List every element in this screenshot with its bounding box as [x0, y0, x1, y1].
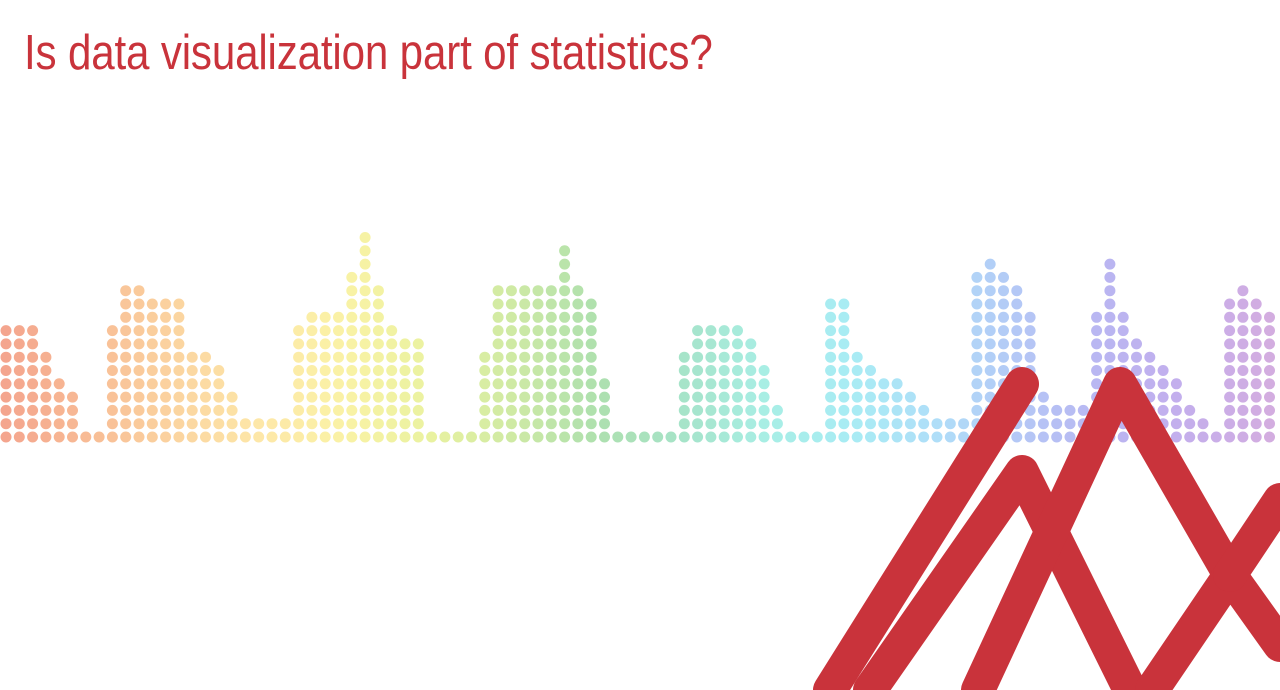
chart-dot — [865, 418, 876, 429]
chart-dot — [692, 405, 703, 416]
chart-dot — [134, 325, 145, 336]
chart-dot — [971, 365, 982, 376]
chart-dot — [1011, 299, 1022, 310]
chart-dot — [360, 325, 371, 336]
chart-dot — [892, 392, 903, 403]
chart-dot — [519, 378, 530, 389]
chart-dot — [838, 299, 849, 310]
chart-dot — [865, 365, 876, 376]
chart-dot — [67, 405, 78, 416]
chart-dot — [346, 285, 357, 296]
chart-dot — [227, 392, 238, 403]
chart-dot — [67, 418, 78, 429]
chart-dot — [1198, 418, 1209, 429]
chart-dot — [1237, 365, 1248, 376]
chart-dot — [998, 312, 1009, 323]
chart-dot — [533, 312, 544, 323]
chart-dot — [320, 325, 331, 336]
chart-dot — [519, 418, 530, 429]
chart-dot — [1011, 365, 1022, 376]
chart-dot — [519, 405, 530, 416]
chart-dot — [1144, 405, 1155, 416]
chart-dot — [400, 392, 411, 403]
chart-dot — [572, 392, 583, 403]
chart-dot — [1264, 312, 1275, 323]
chart-dot — [54, 432, 65, 443]
chart-dot — [1, 378, 12, 389]
chart-dot — [413, 392, 424, 403]
chart-dot — [1158, 392, 1169, 403]
chart-dot — [838, 312, 849, 323]
chart-dot — [107, 352, 118, 363]
chart-dot — [1, 405, 12, 416]
chart-dot — [1251, 432, 1262, 443]
chart-dot — [1011, 418, 1022, 429]
chart-dot — [1104, 405, 1115, 416]
chart-dot — [546, 432, 557, 443]
chart-dot — [506, 325, 517, 336]
chart-dot — [400, 365, 411, 376]
chart-dot — [572, 338, 583, 349]
chart-dot — [360, 418, 371, 429]
chart-dot — [506, 338, 517, 349]
chart-dot — [293, 432, 304, 443]
chart-dot — [293, 418, 304, 429]
chart-dot — [719, 325, 730, 336]
chart-dot — [1184, 418, 1195, 429]
chart-dot — [865, 432, 876, 443]
chart-dot — [1, 432, 12, 443]
chart-dot — [320, 432, 331, 443]
chart-dot — [453, 432, 464, 443]
chart-dot — [40, 352, 51, 363]
chart-dot — [533, 392, 544, 403]
chart-dot — [227, 418, 238, 429]
chart-dot — [1131, 378, 1142, 389]
chart-dot — [679, 405, 690, 416]
chart-dot — [1118, 432, 1129, 443]
chart-dot — [533, 405, 544, 416]
chart-dot — [293, 392, 304, 403]
chart-dot — [386, 325, 397, 336]
chart-dot — [945, 432, 956, 443]
chart-dot — [1184, 432, 1195, 443]
chart-dot — [120, 405, 131, 416]
chart-dot — [333, 392, 344, 403]
chart-dot — [878, 432, 889, 443]
chart-dot — [67, 432, 78, 443]
chart-dot — [120, 338, 131, 349]
chart-dot — [413, 418, 424, 429]
chart-dot — [400, 432, 411, 443]
chart-dot — [533, 352, 544, 363]
chart-dot — [559, 338, 570, 349]
chart-dot — [586, 352, 597, 363]
chart-dot — [386, 418, 397, 429]
dot-matrix-bar-chart — [0, 228, 1280, 450]
chart-dot — [599, 378, 610, 389]
chart-dot — [320, 312, 331, 323]
chart-dot — [280, 418, 291, 429]
chart-dot — [120, 352, 131, 363]
chart-dot — [1171, 432, 1182, 443]
chart-dot — [705, 352, 716, 363]
chart-dot — [546, 325, 557, 336]
chart-dot — [572, 418, 583, 429]
chart-dot — [1025, 392, 1036, 403]
chart-dot — [173, 352, 184, 363]
chart-dot — [346, 432, 357, 443]
chart-dot — [572, 285, 583, 296]
chart-dot — [493, 432, 504, 443]
chart-dot — [559, 405, 570, 416]
chart-dot — [439, 432, 450, 443]
chart-dot — [1264, 418, 1275, 429]
chart-dot — [54, 392, 65, 403]
chart-dot — [360, 352, 371, 363]
chart-dot — [918, 432, 929, 443]
chart-dot — [1158, 418, 1169, 429]
dot-matrix-svg — [0, 228, 1280, 450]
chart-dot — [838, 365, 849, 376]
chart-dot — [373, 365, 384, 376]
chart-dot — [1224, 418, 1235, 429]
chart-dot — [306, 325, 317, 336]
chart-dot — [918, 418, 929, 429]
chart-dot — [1078, 432, 1089, 443]
chart-dot — [346, 338, 357, 349]
chart-dot — [546, 392, 557, 403]
chart-dot — [533, 299, 544, 310]
chart-dot — [1091, 325, 1102, 336]
chart-dot — [1038, 432, 1049, 443]
chart-dot — [546, 405, 557, 416]
chart-dot — [506, 405, 517, 416]
chart-dot — [719, 418, 730, 429]
chart-dot — [479, 365, 490, 376]
chart-dot — [360, 405, 371, 416]
chart-dot — [173, 365, 184, 376]
chart-dot — [1091, 312, 1102, 323]
chart-dot — [985, 325, 996, 336]
chart-dot — [147, 418, 158, 429]
chart-dot — [878, 418, 889, 429]
chart-dot — [27, 418, 38, 429]
chart-dot — [1237, 285, 1248, 296]
chart-dot — [160, 299, 171, 310]
chart-dot — [519, 285, 530, 296]
chart-dot — [187, 418, 198, 429]
chart-dot — [493, 418, 504, 429]
chart-dot — [612, 432, 623, 443]
chart-dot — [546, 352, 557, 363]
chart-dot — [27, 352, 38, 363]
chart-dot — [493, 299, 504, 310]
chart-dot — [1038, 418, 1049, 429]
chart-dot — [107, 392, 118, 403]
chart-dot — [346, 365, 357, 376]
chart-dot — [107, 325, 118, 336]
chart-dot — [147, 325, 158, 336]
chart-dot — [745, 352, 756, 363]
chart-dot — [519, 338, 530, 349]
chart-dot — [306, 392, 317, 403]
chart-dot — [599, 418, 610, 429]
chart-dot — [346, 378, 357, 389]
chart-dot — [1091, 378, 1102, 389]
chart-dot — [705, 325, 716, 336]
chart-dot — [838, 418, 849, 429]
chart-dot — [985, 272, 996, 283]
chart-dot — [134, 312, 145, 323]
chart-dot — [107, 338, 118, 349]
chart-dot — [852, 365, 863, 376]
chart-dot — [586, 312, 597, 323]
chart-dot — [905, 392, 916, 403]
chart-dot — [227, 405, 238, 416]
chart-dot — [147, 312, 158, 323]
chart-dot — [692, 392, 703, 403]
chart-dot — [267, 432, 278, 443]
chart-dot — [1011, 338, 1022, 349]
chart-dot — [732, 325, 743, 336]
chart-dot — [998, 378, 1009, 389]
chart-dot — [1118, 325, 1129, 336]
chart-dot — [918, 405, 929, 416]
chart-dot — [732, 405, 743, 416]
chart-dot — [586, 432, 597, 443]
chart-dot — [160, 392, 171, 403]
chart-dot — [572, 405, 583, 416]
chart-dot — [852, 418, 863, 429]
chart-dot — [1104, 365, 1115, 376]
chart-dot — [1171, 378, 1182, 389]
chart-dot — [572, 378, 583, 389]
chart-dot — [373, 338, 384, 349]
chart-dot — [1158, 405, 1169, 416]
chart-dot — [14, 325, 25, 336]
chart-dot — [479, 405, 490, 416]
chart-dot — [1011, 325, 1022, 336]
chart-dot — [280, 432, 291, 443]
chart-dot — [14, 392, 25, 403]
chart-dot — [187, 432, 198, 443]
chart-dot — [1251, 405, 1262, 416]
chart-dot — [360, 365, 371, 376]
chart-dot — [360, 338, 371, 349]
chart-dot — [493, 338, 504, 349]
chart-dot — [120, 299, 131, 310]
chart-dot — [586, 338, 597, 349]
chart-dot — [147, 338, 158, 349]
chart-dot — [586, 418, 597, 429]
chart-dot — [373, 312, 384, 323]
chart-dot — [1251, 312, 1262, 323]
chart-dot — [333, 365, 344, 376]
chart-dot — [546, 365, 557, 376]
chart-dot — [120, 432, 131, 443]
chart-dot — [400, 418, 411, 429]
chart-dot — [134, 299, 145, 310]
chart-dot — [838, 392, 849, 403]
chart-dot — [413, 352, 424, 363]
chart-dot — [293, 405, 304, 416]
chart-dot — [400, 352, 411, 363]
chart-dot — [1011, 312, 1022, 323]
title-block: Is data visualization part of statistics… — [24, 24, 1204, 86]
chart-dot — [147, 432, 158, 443]
chart-dot — [1224, 392, 1235, 403]
chart-dot — [1091, 338, 1102, 349]
chart-dot — [1118, 378, 1129, 389]
chart-dot — [1224, 378, 1235, 389]
chart-dot — [107, 365, 118, 376]
chart-dot — [572, 352, 583, 363]
chart-dot — [1065, 432, 1076, 443]
chart-dot — [400, 405, 411, 416]
chart-dot — [333, 325, 344, 336]
chart-dot — [1131, 392, 1142, 403]
chart-dot — [213, 365, 224, 376]
chart-dot — [134, 285, 145, 296]
chart-dot — [732, 352, 743, 363]
chart-dot — [373, 325, 384, 336]
chart-dot — [692, 338, 703, 349]
chart-dot — [493, 312, 504, 323]
chart-dot — [160, 325, 171, 336]
chart-dot — [187, 405, 198, 416]
chart-dot — [1118, 392, 1129, 403]
chart-dot — [1264, 405, 1275, 416]
chart-dot — [107, 405, 118, 416]
chart-dot — [400, 338, 411, 349]
chart-dot — [519, 312, 530, 323]
chart-dot — [160, 365, 171, 376]
chart-dot — [559, 392, 570, 403]
chart-dot — [1251, 392, 1262, 403]
chart-dot — [998, 272, 1009, 283]
chart-dot — [373, 299, 384, 310]
chart-dot — [785, 432, 796, 443]
chart-dot — [213, 405, 224, 416]
chart-dot — [1251, 418, 1262, 429]
chart-dot — [905, 432, 916, 443]
chart-dot — [998, 432, 1009, 443]
chart-dot — [1237, 312, 1248, 323]
chart-dot — [519, 365, 530, 376]
chart-dot — [838, 405, 849, 416]
chart-dot — [120, 392, 131, 403]
chart-dot — [1104, 338, 1115, 349]
chart-dot — [692, 352, 703, 363]
chart-dot — [1224, 338, 1235, 349]
chart-dot — [559, 245, 570, 256]
chart-dot — [985, 418, 996, 429]
chart-dot — [373, 285, 384, 296]
chart-dot — [1011, 352, 1022, 363]
chart-dot — [160, 405, 171, 416]
chart-dot — [1237, 338, 1248, 349]
chart-dot — [1211, 432, 1222, 443]
chart-dot — [705, 432, 716, 443]
chart-dot — [572, 312, 583, 323]
chart-dot — [346, 312, 357, 323]
chart-dot — [346, 325, 357, 336]
chart-dot — [599, 405, 610, 416]
chart-dot — [985, 405, 996, 416]
chart-dot — [80, 432, 91, 443]
chart-dot — [1131, 352, 1142, 363]
chart-dot — [320, 338, 331, 349]
chart-dot — [147, 392, 158, 403]
chart-dot — [958, 432, 969, 443]
chart-dot — [1144, 432, 1155, 443]
chart-dot — [27, 392, 38, 403]
chart-dot — [825, 325, 836, 336]
chart-dot — [333, 338, 344, 349]
chart-dot — [506, 312, 517, 323]
chart-dot — [173, 338, 184, 349]
chart-dot — [639, 432, 650, 443]
chart-dot — [1237, 418, 1248, 429]
chart-dot — [1011, 285, 1022, 296]
chart-dot — [40, 405, 51, 416]
chart-dot — [360, 272, 371, 283]
chart-dot — [493, 405, 504, 416]
chart-dot — [892, 378, 903, 389]
chart-dot — [1131, 338, 1142, 349]
chart-dot — [187, 378, 198, 389]
chart-dot — [759, 405, 770, 416]
chart-dot — [320, 352, 331, 363]
chart-dot — [533, 365, 544, 376]
chart-dot — [572, 325, 583, 336]
chart-dot — [40, 418, 51, 429]
chart-dot — [772, 405, 783, 416]
chart-dot — [519, 299, 530, 310]
chart-dot — [745, 365, 756, 376]
chart-dot — [14, 365, 25, 376]
page-title: Is data visualization part of statistics… — [24, 24, 1039, 82]
chart-dot — [27, 365, 38, 376]
chart-dot — [493, 325, 504, 336]
chart-dot — [586, 325, 597, 336]
chart-dot — [838, 432, 849, 443]
chart-dot — [293, 325, 304, 336]
chart-dot — [932, 432, 943, 443]
chart-dot — [1264, 378, 1275, 389]
chart-dot — [1025, 338, 1036, 349]
chart-dot — [1264, 365, 1275, 376]
chart-dot — [333, 352, 344, 363]
chart-dot — [572, 432, 583, 443]
chart-dot — [1, 352, 12, 363]
chart-dot — [759, 392, 770, 403]
chart-dot — [1025, 365, 1036, 376]
chart-dot — [320, 365, 331, 376]
chart-dot — [985, 259, 996, 270]
chart-dot — [386, 405, 397, 416]
chart-dot — [1118, 338, 1129, 349]
chart-dot — [732, 432, 743, 443]
chart-dot — [213, 432, 224, 443]
logo-stroke-4 — [1152, 575, 1280, 690]
chart-dot — [386, 378, 397, 389]
chart-dot — [533, 338, 544, 349]
chart-dot — [506, 299, 517, 310]
chart-dot — [559, 432, 570, 443]
chart-dot — [546, 338, 557, 349]
